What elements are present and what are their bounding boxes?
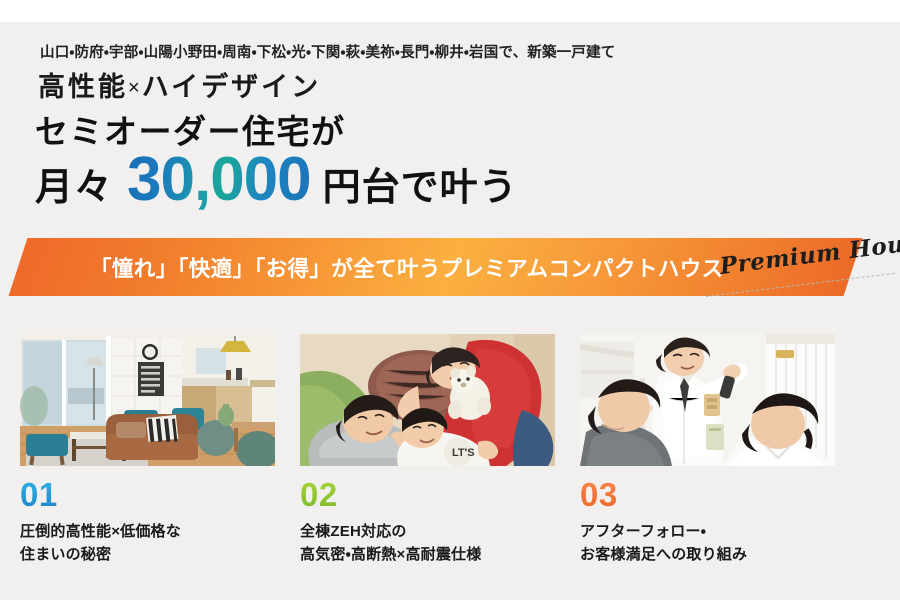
price-suffix-label: 円台で叶う — [323, 156, 518, 211]
multiply-icon: × — [128, 77, 142, 99]
card-description-01: 圧倒的高性能×低価格な 住まいの秘密 — [20, 520, 275, 567]
feature-card-list: 01 圧倒的高性能×低価格な 住まいの秘密 — [0, 334, 900, 567]
card-photo-family: LT'S — [300, 334, 555, 466]
top-white-strip — [0, 0, 900, 22]
svg-text:LT'S: LT'S — [452, 447, 475, 459]
card-photo-staff-explaining — [580, 334, 835, 466]
performance-label: 高性能 — [38, 72, 128, 102]
price-amount: 30,000 — [127, 149, 311, 211]
card-desc-line2: 住まいの秘密 — [20, 543, 275, 566]
feature-card-02[interactable]: LT'S 02 全棟ZEH対応の 高気密・高断熱×高耐震仕様 — [300, 334, 555, 567]
service-area-line: 山口・防府・宇部・山陽小野田・周南・下松・光・下関・萩・美祢・長門・柳井・岩国で… — [40, 41, 615, 62]
card-photo-living-room — [20, 334, 275, 466]
promo-page: 山口・防府・宇部・山陽小野田・周南・下松・光・下関・萩・美祢・長門・柳井・岩国で… — [0, 0, 900, 600]
ribbon-label: 「憧れ」「快適」「お得」が全て叶うプレミアムコンパクトハウス — [90, 252, 724, 283]
card-number-02: 02 — [300, 478, 555, 511]
card-desc-line1: 全棟ZEH対応の — [300, 523, 407, 540]
price-prefix-label: 月々 — [35, 156, 113, 211]
feature-card-01[interactable]: 01 圧倒的高性能×低価格な 住まいの秘密 — [20, 334, 275, 567]
card-desc-line2: お客様満足への取り組み — [580, 543, 835, 566]
high-design-label: ハイデザイン — [142, 72, 321, 102]
card-description-03: アフターフォロー・ お客様満足への取り組み — [580, 520, 835, 567]
card-description-02: 全棟ZEH対応の 高気密・高断熱×高耐震仕様 — [300, 520, 555, 567]
monthly-price-line: 月々 30,000 円台で叶う — [35, 149, 518, 211]
feature-card-03[interactable]: 03 アフターフォロー・ お客様満足への取り組み — [580, 334, 835, 567]
card-number-01: 01 — [20, 478, 275, 511]
card-desc-line1: 圧倒的高性能×低価格な — [20, 523, 181, 540]
performance-design-line: 高性能×ハイデザイン — [38, 65, 321, 104]
card-desc-line2: 高気密・高断熱×高耐震仕様 — [300, 543, 555, 566]
card-number-03: 03 — [580, 478, 835, 511]
card-desc-line1: アフターフォロー・ — [580, 523, 706, 540]
